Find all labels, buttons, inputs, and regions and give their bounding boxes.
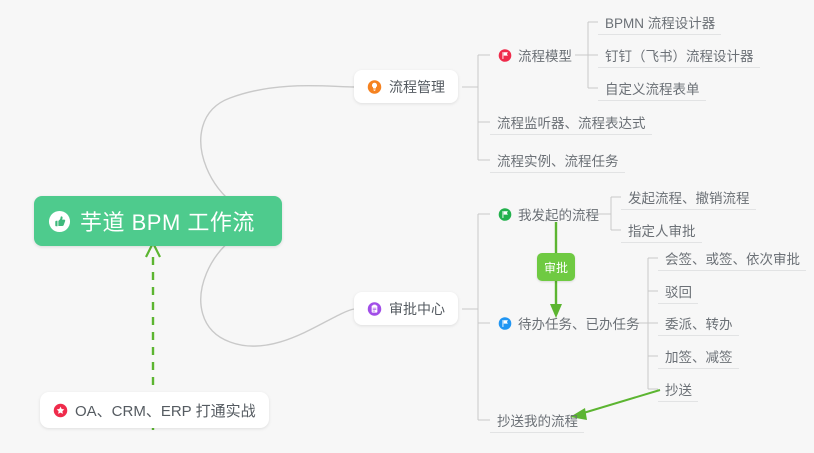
node-oa-crm-erp[interactable]: OA、CRM、ERP 打通实战: [40, 392, 269, 428]
node-label: 流程实例、流程任务: [497, 150, 619, 170]
node-my-initiated-process[interactable]: 我发起的流程: [491, 201, 605, 227]
node-label: 抄送我的流程: [497, 410, 578, 430]
node-label: 流程模型: [518, 45, 572, 65]
node-label: 驳回: [665, 281, 692, 301]
flag-icon: [498, 48, 512, 62]
node-label: BPMN 流程设计器: [605, 12, 715, 32]
flag-icon: [498, 207, 512, 221]
node-process-instance[interactable]: 流程实例、流程任务: [490, 147, 625, 173]
node-label: 流程监听器、流程表达式: [497, 112, 646, 132]
node-label: 加签、减签: [665, 346, 733, 366]
node-cc[interactable]: 抄送: [658, 376, 698, 402]
node-cc-to-me[interactable]: 抄送我的流程: [490, 407, 584, 433]
node-label: 我发起的流程: [518, 204, 599, 224]
root-node[interactable]: 芋道 BPM 工作流: [34, 196, 282, 246]
node-label: 会签、或签、依次审批: [665, 248, 800, 268]
node-label: 委派、转办: [665, 313, 733, 333]
node-reject[interactable]: 驳回: [658, 278, 698, 304]
node-start-cancel-process[interactable]: 发起流程、撤销流程: [621, 184, 756, 210]
branch-label: 审批中心: [389, 299, 445, 319]
root-label: 芋道 BPM 工作流: [80, 205, 255, 237]
node-label: 自定义流程表单: [605, 78, 700, 98]
flow-arrow-tag: 审批: [537, 253, 575, 281]
node-process-model[interactable]: 流程模型: [491, 42, 578, 68]
node-delegate-transfer[interactable]: 委派、转办: [658, 310, 739, 336]
node-process-listener[interactable]: 流程监听器、流程表达式: [490, 109, 652, 135]
branch-label: 流程管理: [389, 77, 445, 97]
node-custom-form[interactable]: 自定义流程表单: [598, 75, 706, 101]
node-label: 钉钉（飞书）流程设计器: [605, 45, 754, 65]
star-icon: [53, 403, 68, 418]
node-label: 待办任务、已办任务: [518, 313, 640, 333]
node-countersign[interactable]: 会签、或签、依次审批: [658, 245, 806, 271]
node-dingtalk-designer[interactable]: 钉钉（飞书）流程设计器: [598, 42, 760, 68]
clipboard-icon: [367, 301, 382, 316]
branch-process-management[interactable]: 流程管理: [354, 70, 458, 103]
node-label: 抄送: [665, 379, 692, 399]
branch-approval-center[interactable]: 审批中心: [354, 292, 458, 325]
flag-icon: [498, 316, 512, 330]
node-todo-done-tasks[interactable]: 待办任务、已办任务: [491, 310, 646, 336]
node-label: OA、CRM、ERP 打通实战: [75, 400, 256, 421]
node-label: 指定人审批: [628, 220, 696, 240]
thumbs-up-icon: [48, 210, 71, 233]
lightbulb-icon: [367, 79, 382, 94]
node-bpmn-designer[interactable]: BPMN 流程设计器: [598, 9, 721, 35]
node-add-remove-sign[interactable]: 加签、减签: [658, 343, 739, 369]
flow-arrow-tag-label: 审批: [544, 259, 568, 276]
node-label: 发起流程、撤销流程: [628, 187, 750, 207]
mindmap-canvas: 芋道 BPM 工作流 流程管理 流程模型 BPMN 流程设计器 钉钉（飞书）流程: [0, 0, 814, 453]
node-assigned-approval[interactable]: 指定人审批: [621, 217, 702, 243]
